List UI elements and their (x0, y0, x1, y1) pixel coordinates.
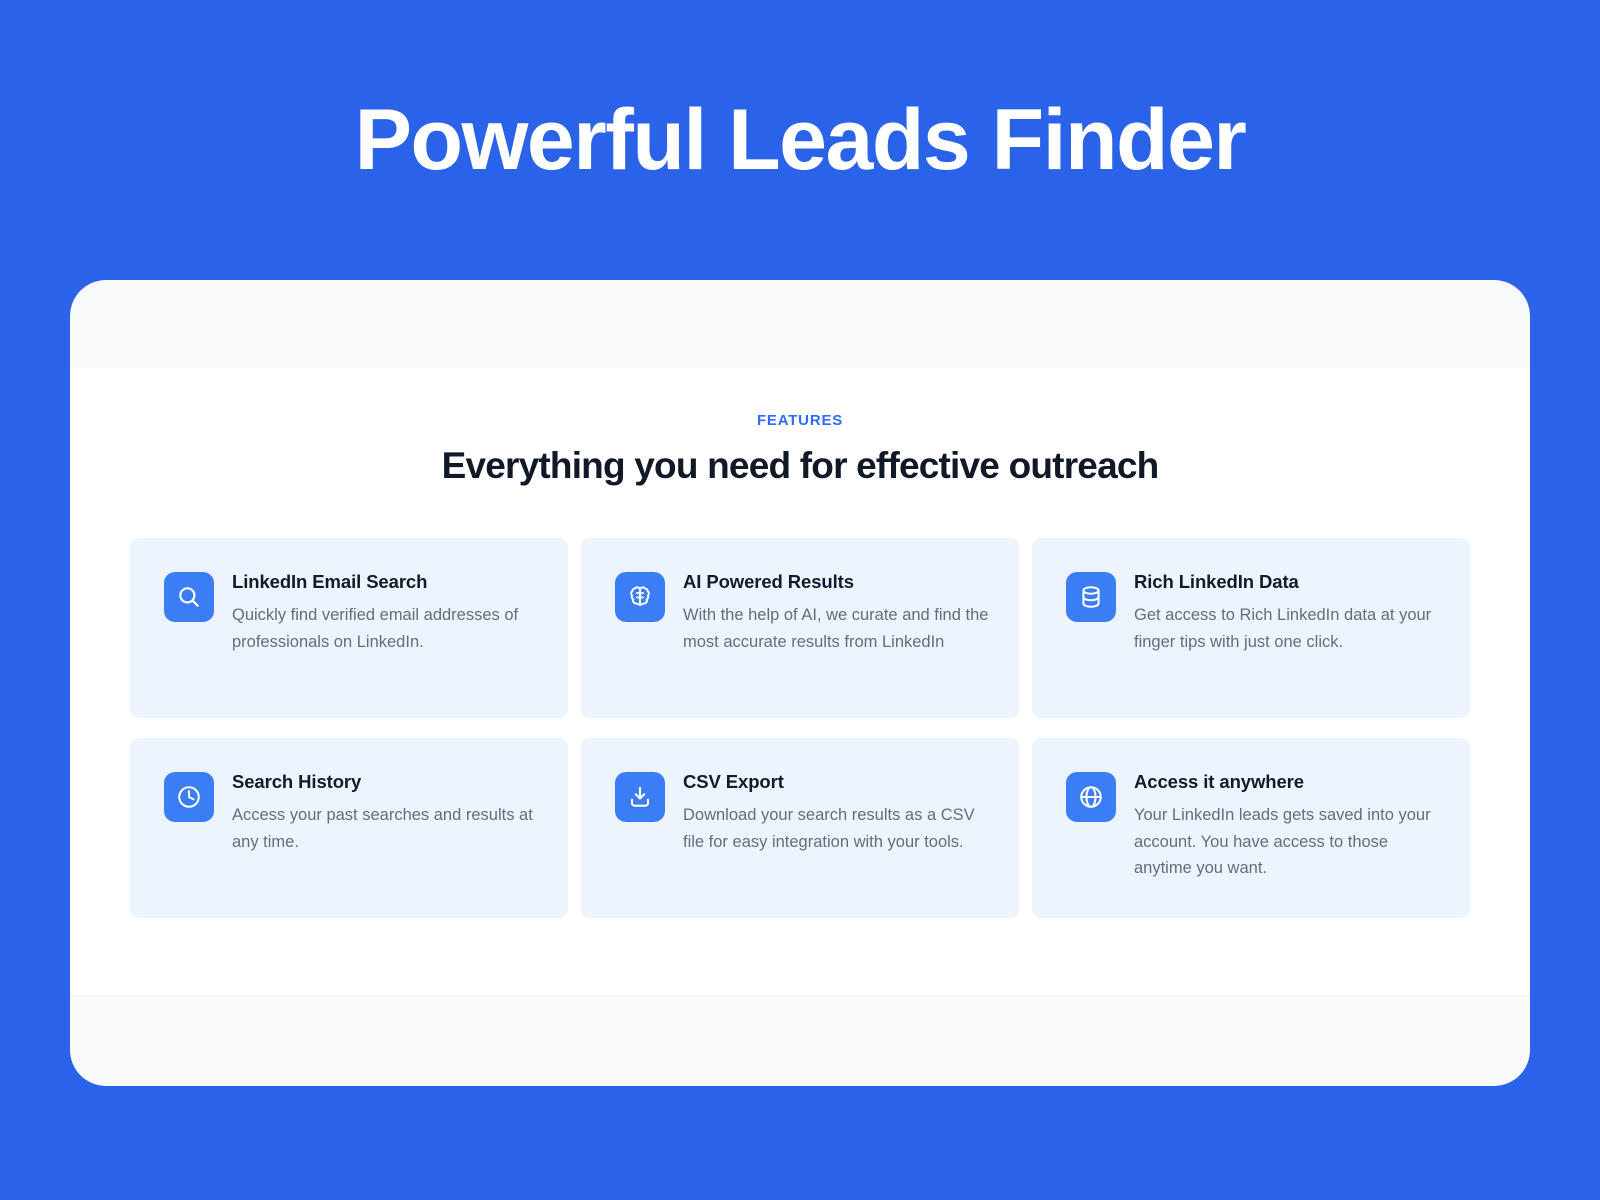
features-panel: FEATURES Everything you need for effecti… (70, 280, 1530, 1086)
section-header: FEATURES Everything you need for effecti… (70, 412, 1530, 488)
feature-card-body: Rich LinkedIn Data Get access to Rich Li… (1134, 570, 1442, 655)
feature-card-body: Search History Access your past searches… (232, 770, 540, 855)
page-title: Powerful Leads Finder (355, 97, 1246, 183)
clock-icon (164, 772, 214, 822)
features-grid: LinkedIn Email Search Quickly find verif… (130, 538, 1470, 918)
hero-section: Powerful Leads Finder (0, 0, 1600, 280)
feature-title: Search History (232, 770, 540, 793)
brain-icon (615, 572, 665, 622)
landing-page: Powerful Leads Finder FEATURES Everythin… (0, 0, 1600, 1200)
feature-card[interactable]: AI Powered Results With the help of AI, … (581, 538, 1019, 718)
feature-card-body: AI Powered Results With the help of AI, … (683, 570, 991, 655)
feature-description: Get access to Rich LinkedIn data at your… (1134, 602, 1442, 655)
section-eyebrow: FEATURES (70, 412, 1530, 429)
feature-title: Rich LinkedIn Data (1134, 570, 1442, 593)
feature-card[interactable]: Access it anywhere Your LinkedIn leads g… (1032, 738, 1470, 918)
feature-description: Your LinkedIn leads gets saved into your… (1134, 802, 1442, 881)
feature-card[interactable]: Rich LinkedIn Data Get access to Rich Li… (1032, 538, 1470, 718)
feature-card-body: Access it anywhere Your LinkedIn leads g… (1134, 770, 1442, 881)
globe-icon (1066, 772, 1116, 822)
feature-title: AI Powered Results (683, 570, 991, 593)
feature-card[interactable]: LinkedIn Email Search Quickly find verif… (130, 538, 568, 718)
feature-card-body: LinkedIn Email Search Quickly find verif… (232, 570, 540, 655)
feature-description: With the help of AI, we curate and find … (683, 602, 991, 655)
search-icon (164, 572, 214, 622)
feature-description: Access your past searches and results at… (232, 802, 540, 855)
feature-card[interactable]: Search History Access your past searches… (130, 738, 568, 918)
feature-title: CSV Export (683, 770, 991, 793)
feature-description: Download your search results as a CSV fi… (683, 802, 991, 855)
feature-title: Access it anywhere (1134, 770, 1442, 793)
feature-title: LinkedIn Email Search (232, 570, 540, 593)
database-icon (1066, 572, 1116, 622)
feature-description: Quickly find verified email addresses of… (232, 602, 540, 655)
section-title: Everything you need for effective outrea… (70, 445, 1530, 488)
feature-card[interactable]: CSV Export Download your search results … (581, 738, 1019, 918)
download-icon (615, 772, 665, 822)
feature-card-body: CSV Export Download your search results … (683, 770, 991, 855)
